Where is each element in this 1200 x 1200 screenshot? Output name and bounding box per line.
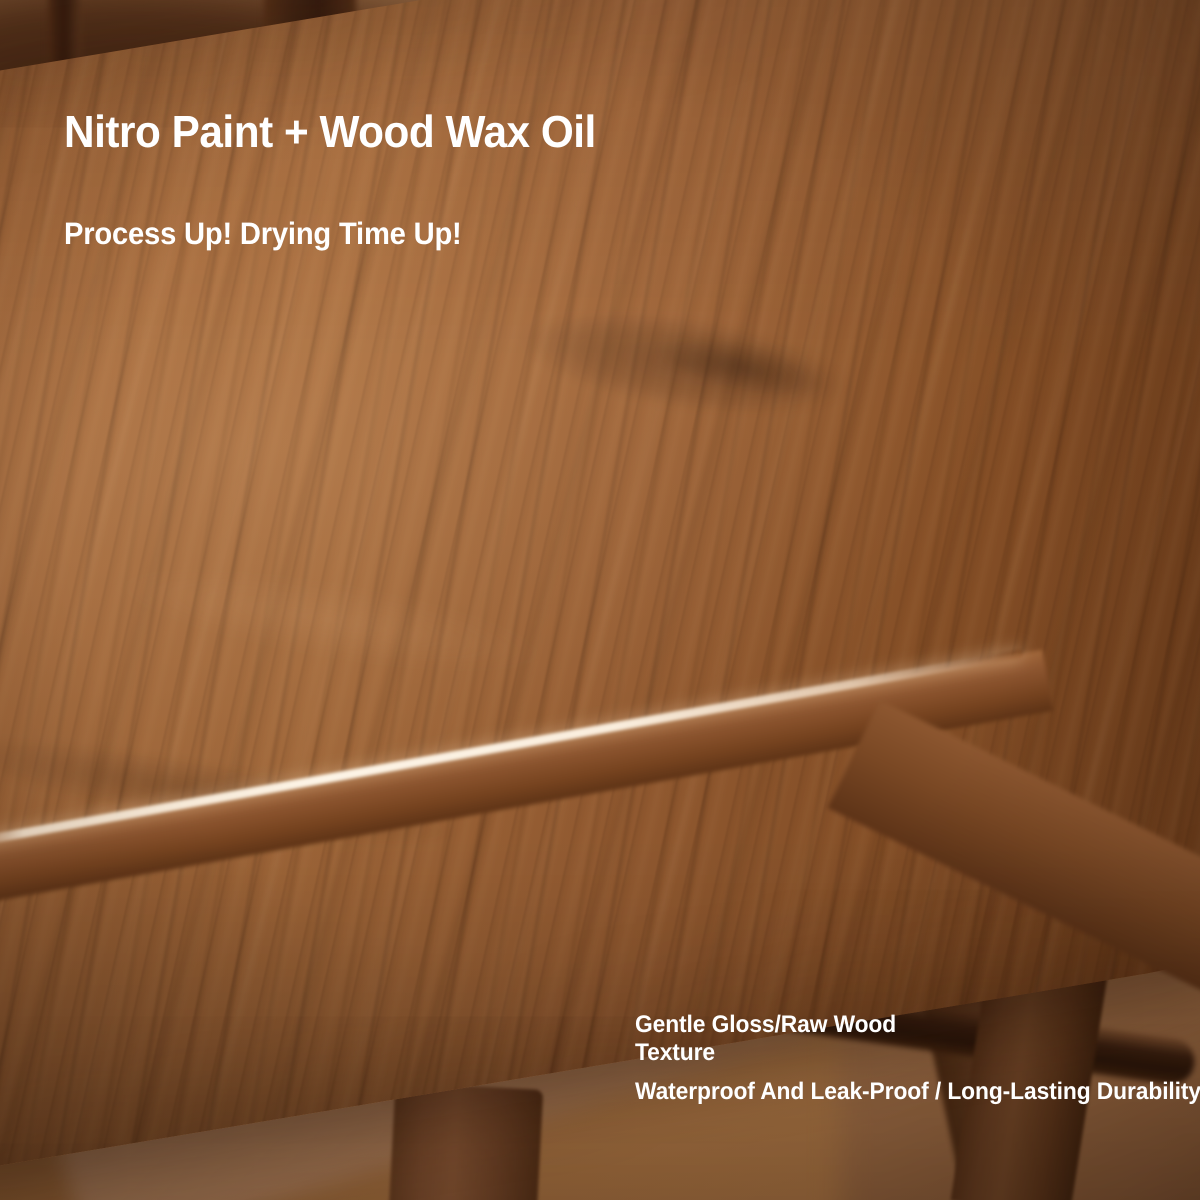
- feature-label-gloss: Gentle Gloss/Raw Wood Texture: [635, 1011, 949, 1067]
- wood-knot: [648, 322, 835, 412]
- page-title: Nitro Paint + Wood Wax Oil: [64, 108, 596, 155]
- feature-label-durability: Waterproof And Leak-Proof / Long-Lasting…: [635, 1078, 1200, 1106]
- chair-product-photo: [0, 0, 1200, 1200]
- product-photo-banner: Nitro Paint + Wood Wax Oil Process Up! D…: [0, 0, 1200, 1200]
- wood-figure-swirl-1: [516, 294, 856, 434]
- page-subtitle: Process Up! Drying Time Up!: [64, 217, 462, 250]
- chair-leg-front: [389, 1082, 544, 1200]
- wood-figure-swirl-2: [118, 551, 544, 689]
